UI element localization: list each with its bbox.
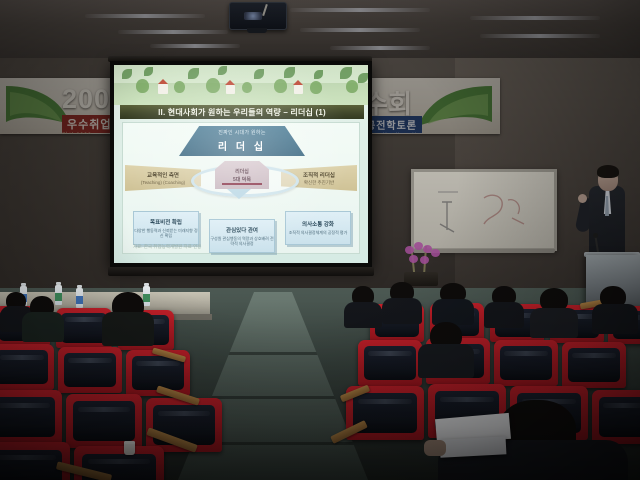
box-title: 관심있다 관여 — [226, 226, 258, 234]
diagram-box: 관심있다 관여 구성원 관심행동의 역량과 상호배려 전략적 의사결정 — [209, 219, 275, 253]
reader-hand — [424, 440, 446, 456]
box-title: 목표비전 확립 — [150, 218, 182, 226]
projector-lens-icon — [244, 12, 262, 20]
tree-icon — [242, 82, 252, 93]
trapezoid-title: 리 더 십 — [218, 138, 266, 153]
seat — [562, 342, 626, 388]
house-icon — [294, 85, 303, 94]
projector-icon — [229, 2, 287, 30]
core-underline — [222, 183, 262, 185]
diagram-box: 의사소통 강화 조직적 의사결정체계의 공정적 평가 — [285, 211, 351, 245]
slide-header-hill — [114, 83, 368, 105]
banner-blue-sub: 학교 한동공학교 — [382, 131, 422, 134]
slide-title-text: II. 현대사회가 원하는 우리들의 역량 – 리더십 (1) — [158, 107, 326, 118]
seat — [0, 390, 62, 444]
slide-footer-note: 자료: 한국 취업능력개발원 자료 인용 — [133, 244, 201, 250]
tree-icon — [346, 80, 358, 93]
presenter-hair — [597, 165, 619, 178]
ceiling-light-icon — [118, 30, 228, 34]
ceiling-light-icon — [85, 14, 205, 18]
banner-year: 200 — [62, 84, 110, 115]
leaf-icon — [254, 69, 264, 79]
tree-icon — [274, 79, 287, 93]
box-sub: 조직적 의사결정체계의 공정적 평가 — [289, 230, 348, 235]
leaf-icon — [218, 66, 227, 75]
house-roof-icon — [225, 80, 235, 85]
down-arrow-icon — [227, 189, 251, 199]
ceiling-light-icon — [480, 34, 600, 38]
diagram-header-trapezoid: 진짜인 시대가 원하는 리 더 십 — [179, 126, 305, 156]
ceiling — [0, 0, 640, 62]
wing-right-sub: 확신한 추진기반 — [304, 180, 334, 186]
box-title: 의사소통 강화 — [302, 220, 334, 228]
booklet-page — [440, 436, 507, 457]
tree-icon — [136, 79, 149, 93]
house-roof-icon — [293, 80, 303, 85]
projector-cable — [262, 4, 268, 16]
leaf-icon — [144, 67, 153, 76]
house-icon — [226, 85, 235, 94]
slide-title-bar: II. 현대사회가 원하는 우리들의 역량 – 리더십 (1) — [120, 105, 364, 119]
leaf-icon — [188, 68, 199, 79]
wing-left-title: 교육적인 측면 — [147, 171, 179, 179]
seat — [58, 347, 122, 393]
box-sub: 구성원 관심행동의 역량과 상호배려 전략적 의사결정 — [210, 236, 274, 247]
slide-diagram: 진짜인 시대가 원하는 리 더 십 교육적인 측면 (Teaching) (Co… — [122, 122, 360, 254]
diagram-box: 목표비전 확립 다양한 행동력과 신뢰받는 미래지향 정신 확립 — [133, 211, 199, 245]
screen-bottom-bar — [108, 267, 374, 276]
ceiling-light-icon — [300, 28, 420, 32]
core-subtitle: 5대 덕목 — [233, 176, 251, 183]
trapezoid-subtitle: 진짜인 시대가 원하는 — [218, 129, 265, 136]
presenter-hand — [578, 194, 587, 203]
seat — [66, 394, 142, 448]
whiteboard — [411, 169, 557, 251]
house-roof-icon — [158, 79, 168, 84]
orchid-bloom-icon — [420, 256, 429, 264]
projection-screen: II. 현대사회가 원하는 우리들의 역량 – 리더십 (1) 진짜인 시대가 … — [110, 61, 372, 267]
ceiling-light-icon — [330, 46, 430, 50]
orchid-bloom-icon — [431, 249, 440, 257]
seat — [592, 390, 640, 444]
tree-icon — [310, 81, 322, 94]
seat — [358, 340, 422, 386]
core-title: 리더십 — [235, 168, 249, 175]
projector-mount — [247, 28, 267, 33]
leaf-icon — [122, 69, 132, 79]
presentation-slide: II. 현대사회가 원하는 우리들의 역량 – 리더십 (1) 진짜인 시대가 … — [114, 65, 368, 263]
leaf-icon — [314, 70, 323, 79]
ceiling-light-icon — [290, 8, 430, 12]
lecture-hall-photo: 200 우수취업 일시 2009. 수회 공전학토론 학교 한동공학교 — [0, 0, 640, 480]
diagram-wing-left: 교육적인 측면 (Teaching) (Coaching) — [125, 165, 201, 191]
diagram-core-shape: 리더십 5대 덕목 — [215, 161, 269, 189]
leaf-icon — [340, 67, 352, 79]
slide-header-image — [114, 65, 368, 105]
wing-right-title: 조직적 리더십 — [303, 171, 335, 179]
leaf-icon — [284, 67, 295, 78]
orchid-bloom-icon — [405, 246, 414, 254]
paper-cup-rim — [124, 441, 135, 444]
tree-icon — [206, 78, 220, 93]
orchid-bloom-icon — [414, 242, 423, 250]
orchid-bloom-icon — [409, 255, 418, 263]
seat — [494, 340, 558, 386]
seat — [0, 344, 54, 390]
banner-red-sub: 일시 2009. — [62, 130, 94, 134]
wing-left-sub: (Teaching) (Coaching) — [141, 180, 185, 185]
tree-icon — [174, 81, 185, 93]
leaf-icon — [358, 73, 368, 83]
ceiling-light-icon — [150, 44, 240, 48]
box-sub: 다양한 행동력과 신뢰받는 미래지향 정신 확립 — [134, 228, 198, 239]
microphone-icon — [593, 233, 598, 238]
ceiling-light-icon — [470, 16, 600, 20]
house-icon — [158, 84, 168, 94]
